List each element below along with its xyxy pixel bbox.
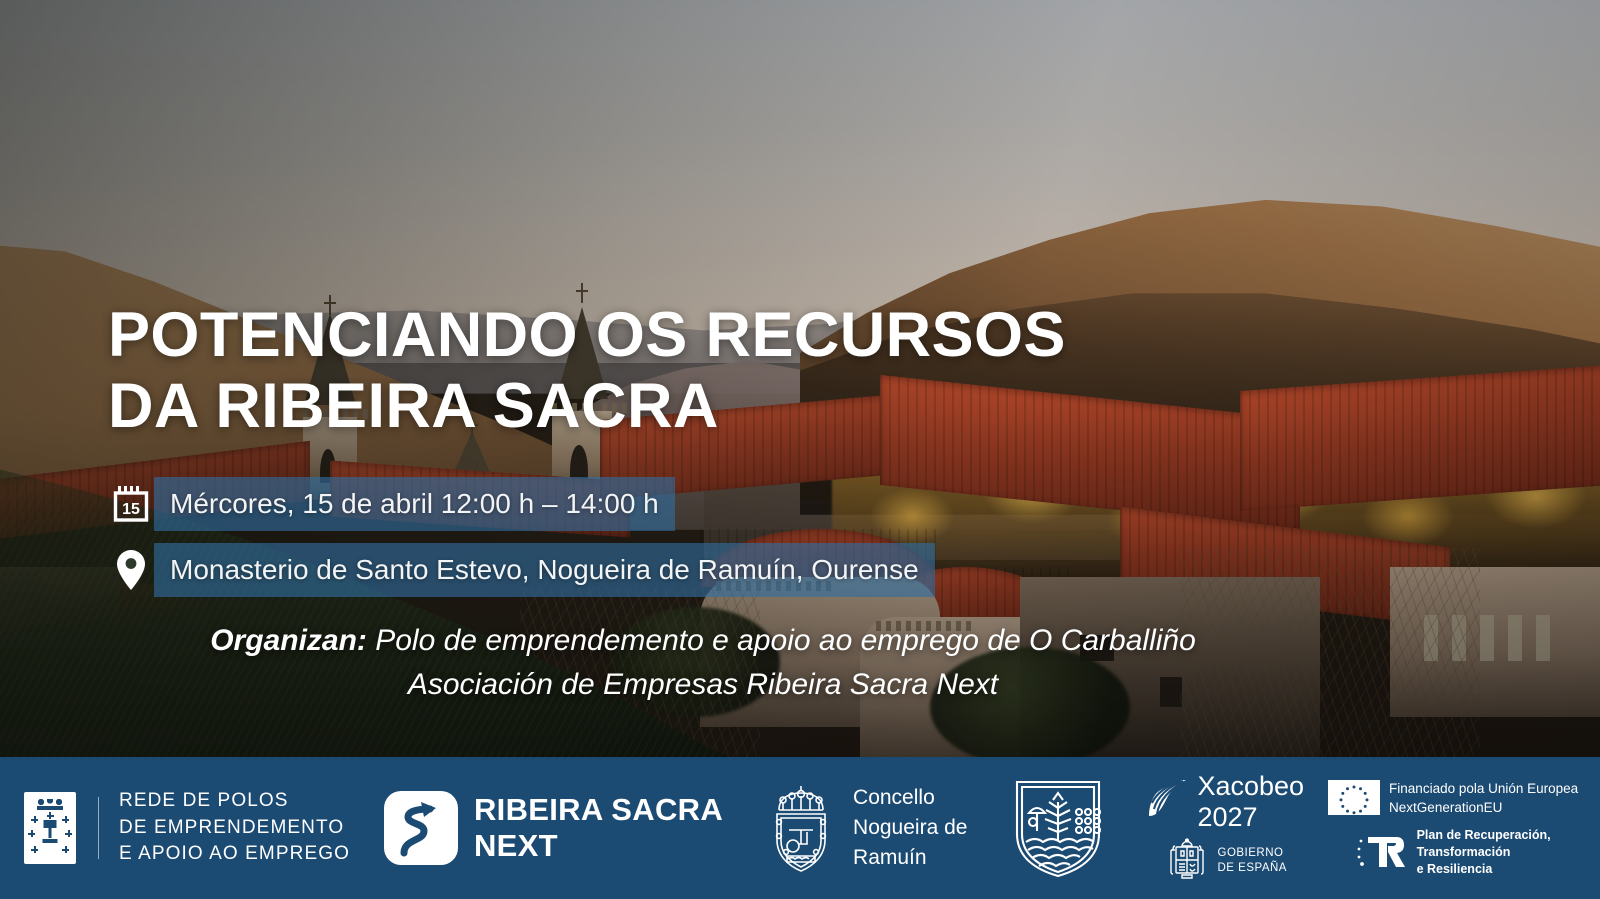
xacobeo-row: Xacobeo 2027 xyxy=(1145,771,1304,831)
poster-content: POTENCIANDO OS RECURSOS DA RIBEIRA SACRA… xyxy=(108,300,1528,706)
xacobeo-gobierno-block: Xacobeo 2027 xyxy=(1145,757,1304,899)
organizers-label: Organizan: xyxy=(210,624,367,657)
eu-row: Financiado pola Unión Europea NextGenera… xyxy=(1328,779,1578,817)
sponsor-footer: REDE DE POLOS DE EMPRENDEMENTO E APOIO A… xyxy=(0,757,1600,899)
prtr-label: Plan de Recuperación, Transformación e R… xyxy=(1417,827,1551,877)
ribeira-sacra-next-logo-block: RIBEIRA SACRA NEXT xyxy=(384,757,723,899)
gobierno-label: GOBIERNO DE ESPAÑA xyxy=(1218,846,1287,876)
divider xyxy=(98,797,99,859)
page-title: POTENCIANDO OS RECURSOS DA RIBEIRA SACRA xyxy=(108,300,1528,441)
concello-crest-icon xyxy=(759,780,843,876)
xunta-logo-block: REDE DE POLOS DE EMPRENDEMENTO E APOIO A… xyxy=(24,757,350,899)
xunta-label: REDE DE POLOS DE EMPRENDEMENTO E APOIO A… xyxy=(119,788,350,869)
map-pin-icon xyxy=(108,549,154,591)
shield-emblem-block xyxy=(1009,757,1107,899)
event-details: 15 Mércores, 15 de abril 12:00 h – 14:00… xyxy=(108,477,1528,597)
organizers-text: Organizan: Polo de emprendemento e apoio… xyxy=(108,619,1298,706)
concello-logo-block: Concello Nogueira de Ramuín xyxy=(759,757,967,899)
prtr-logo-icon xyxy=(1356,832,1410,872)
location-row: Monasterio de Santo Estevo, Nogueira de … xyxy=(108,543,1528,597)
ribeira-sacra-next-label: RIBEIRA SACRA NEXT xyxy=(474,792,723,864)
winding-arrow-icon xyxy=(384,791,458,865)
event-poster: POTENCIANDO OS RECURSOS DA RIBEIRA SACRA… xyxy=(0,0,1600,899)
spain-coat-of-arms-icon xyxy=(1163,838,1211,885)
eu-flag-icon xyxy=(1328,780,1380,815)
prtr-row: Plan de Recuperación, Transformación e R… xyxy=(1356,827,1551,877)
xunta-de-galicia-coat-of-arms-icon xyxy=(24,792,76,864)
organizers-line2: Asociación de Empresas Ribeira Sacra Nex… xyxy=(408,668,998,701)
calendar-icon: 15 xyxy=(108,485,154,523)
xacobeo-label: Xacobeo 2027 xyxy=(1197,771,1304,831)
date-text: Mércores, 15 de abril 12:00 h – 14:00 h xyxy=(154,477,675,531)
concello-label: Concello Nogueira de Ramuín xyxy=(853,783,967,872)
scallop-shell-icon xyxy=(1145,778,1189,825)
date-row: 15 Mércores, 15 de abril 12:00 h – 14:00… xyxy=(108,477,1528,531)
shield-tree-waves-icon xyxy=(1009,776,1107,880)
eu-funding-label: Financiado pola Unión Europea NextGenera… xyxy=(1389,779,1578,817)
svg-text:15: 15 xyxy=(122,501,140,518)
eu-funding-block: Financiado pola Unión Europea NextGenera… xyxy=(1328,757,1578,899)
location-text: Monasterio de Santo Estevo, Nogueira de … xyxy=(154,543,935,597)
gobierno-row: GOBIERNO DE ESPAÑA xyxy=(1163,838,1287,885)
organizers-line1: Polo de emprendemento e apoio ao emprego… xyxy=(367,624,1196,657)
